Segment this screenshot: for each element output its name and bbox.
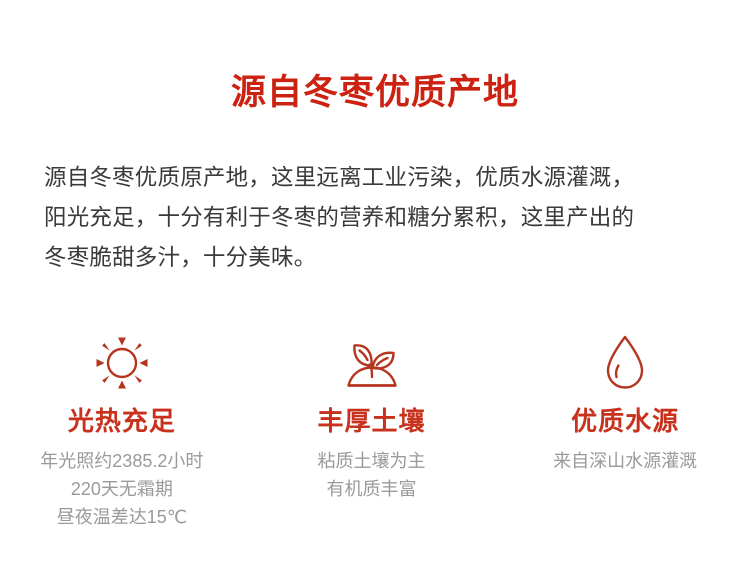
feature-title-water: 优质水源 — [500, 404, 750, 438]
sun-icon — [0, 330, 247, 396]
feature-detail-sunlight: 年光照约2385.2小时 220天无霜期 昼夜温差达15℃ — [0, 447, 247, 531]
feature-detail-line: 220天无霜期 — [0, 475, 247, 503]
product-origin-section: 源自冬枣优质产地 源自冬枣优质原产地，这里远离工业污染，优质水源灌溉， 阳光充足… — [0, 0, 750, 579]
feature-item-sunlight: 光热充足 年光照约2385.2小时 220天无霜期 昼夜温差达15℃ — [0, 330, 247, 531]
feature-detail-line: 昼夜温差达15℃ — [0, 503, 247, 531]
sprout-icon — [247, 330, 497, 396]
feature-detail-line: 粘质土壤为主 — [247, 447, 497, 475]
intro-line-1: 源自冬枣优质原产地，这里远离工业污染，优质水源灌溉， — [44, 158, 710, 198]
feature-detail-line: 年光照约2385.2小时 — [0, 447, 247, 475]
feature-detail-line: 有机质丰富 — [247, 475, 497, 503]
intro-line-3: 冬枣脆甜多汁，十分美味。 — [44, 238, 710, 278]
feature-item-water: 优质水源 来自深山水源灌溉 — [500, 330, 750, 475]
water-drop-icon — [500, 330, 750, 396]
feature-title-soil: 丰厚土壤 — [247, 404, 497, 438]
feature-detail-soil: 粘质土壤为主 有机质丰富 — [247, 447, 497, 503]
intro-line-2: 阳光充足，十分有利于冬枣的营养和糖分累积，这里产出的 — [44, 198, 710, 238]
feature-title-sunlight: 光热充足 — [0, 404, 247, 438]
intro-paragraph: 源自冬枣优质原产地，这里远离工业污染，优质水源灌溉， 阳光充足，十分有利于冬枣的… — [44, 158, 710, 278]
page-title: 源自冬枣优质产地 — [0, 72, 750, 114]
feature-list: 光热充足 年光照约2385.2小时 220天无霜期 昼夜温差达15℃ — [0, 330, 750, 531]
feature-detail-line: 来自深山水源灌溉 — [500, 447, 750, 475]
feature-detail-water: 来自深山水源灌溉 — [500, 447, 750, 475]
feature-item-soil: 丰厚土壤 粘质土壤为主 有机质丰富 — [247, 330, 497, 503]
